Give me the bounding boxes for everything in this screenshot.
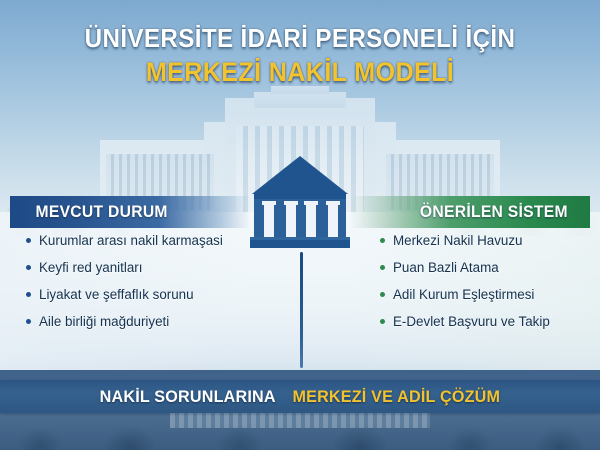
government-building-icon [248, 150, 352, 254]
bullet-dot-icon [380, 265, 385, 270]
list-item: E-Devlet Başvuru ve Takip [380, 311, 594, 338]
page-title-line1: ÜNİVERSİTE İDARİ PERSONELİ İÇİN [21, 22, 579, 54]
bullet-dot-icon [26, 265, 31, 270]
list-item: Keyfi red yanitları [26, 257, 278, 284]
banner-text-highlight: MERKEZİ VE ADİL ÇÖZÜM [292, 387, 500, 407]
bottom-banner: NAKİL SORUNLARINA MERKEZİ VE ADİL ÇÖZÜM [0, 380, 600, 413]
bullet-dot-icon [380, 319, 385, 324]
left-panel-list: Kurumlar arası nakil karmaşasi Keyfi red… [26, 230, 278, 338]
list-item-label: Merkezi Nakil Havuzu [393, 230, 522, 251]
left-panel-header-bar: MEVCUT DURUM [10, 196, 250, 228]
bullet-dot-icon [380, 238, 385, 243]
left-panel-header-label: MEVCUT DURUM [35, 203, 167, 222]
bullet-dot-icon [26, 238, 31, 243]
right-panel-header-label: ÖNERİLEN SİSTEM [420, 203, 568, 222]
bullet-dot-icon [26, 292, 31, 297]
banner-text-primary: NAKİL SORUNLARINA [99, 387, 275, 407]
list-item-label: E-Devlet Başvuru ve Takip [393, 311, 550, 332]
panel-divider [300, 252, 303, 368]
list-item-label: Aile birliği mağduriyeti [39, 311, 169, 332]
list-item: Merkezi Nakil Havuzu [380, 230, 594, 257]
infographic-canvas: ÜNİVERSİTE İDARİ PERSONELİ İÇİN MERKEZİ … [0, 0, 600, 450]
bullet-dot-icon [380, 292, 385, 297]
list-item-label: Keyfi red yanitları [39, 257, 142, 278]
right-panel-list: Merkezi Nakil Havuzu Puan Bazli Atama Ad… [380, 230, 594, 338]
list-item: Liyakat ve şeffaflık sorunu [26, 284, 278, 311]
list-item: Aile birliği mağduriyeti [26, 311, 278, 338]
list-item-label: Puan Bazli Atama [393, 257, 499, 278]
list-item: Puan Bazli Atama [380, 257, 594, 284]
title-block: ÜNİVERSİTE İDARİ PERSONELİ İÇİN MERKEZİ … [0, 22, 600, 89]
list-item: Kurumlar arası nakil karmaşasi [26, 230, 278, 257]
list-item-label: Adil Kurum Eşleştirmesi [393, 284, 534, 305]
right-panel-header-bar: ÖNERİLEN SİSTEM [350, 196, 590, 228]
list-item: Adil Kurum Eşleştirmesi [380, 284, 594, 311]
list-item-label: Liyakat ve şeffaflık sorunu [39, 284, 194, 305]
building-attic [254, 92, 346, 108]
bullet-dot-icon [26, 319, 31, 324]
page-title-line2: MERKEZİ NAKİL MODELİ [21, 55, 579, 89]
list-item-label: Kurumlar arası nakil karmaşasi [39, 230, 223, 251]
